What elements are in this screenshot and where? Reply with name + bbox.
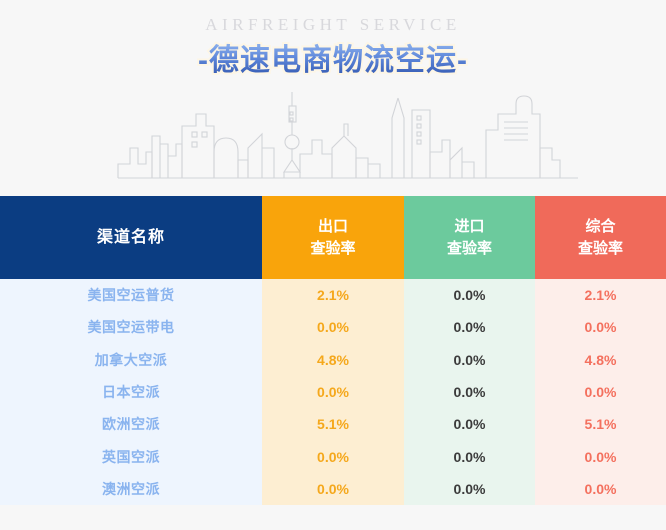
cell-export-rate: 0.0% bbox=[262, 473, 404, 505]
table-header-row: 渠道名称 出口 查验率 进口 查验率 综合 查验率 bbox=[0, 196, 666, 279]
cell-channel-name: 英国空派 bbox=[0, 440, 262, 472]
cell-import-rate: 0.0% bbox=[404, 279, 535, 311]
column-header-total-line2: 查验率 bbox=[535, 238, 666, 260]
cell-channel-name: 加拿大空派 bbox=[0, 344, 262, 376]
cell-channel-name: 日本空派 bbox=[0, 376, 262, 408]
cell-total-rate: 0.0% bbox=[535, 440, 666, 472]
cell-import-rate: 0.0% bbox=[404, 473, 535, 505]
cell-export-rate: 5.1% bbox=[262, 408, 404, 440]
cell-export-rate: 4.8% bbox=[262, 344, 404, 376]
cell-total-rate: 0.0% bbox=[535, 473, 666, 505]
table-row[interactable]: 美国空运普货2.1%0.0%2.1% bbox=[0, 279, 666, 311]
column-header-import-line1: 进口 bbox=[404, 216, 535, 238]
banner-text: AIRFREIGHT SERVICE -德速电商物流空运- -德速电商物流空运- bbox=[0, 0, 666, 80]
column-header-export-rate: 出口 查验率 bbox=[262, 196, 404, 279]
column-header-channel-name: 渠道名称 bbox=[0, 196, 262, 279]
cell-channel-name: 澳洲空派 bbox=[0, 473, 262, 505]
cell-channel-name: 美国空运普货 bbox=[0, 279, 262, 311]
banner: AIRFREIGHT SERVICE -德速电商物流空运- -德速电商物流空运- bbox=[0, 0, 666, 196]
cell-total-rate: 2.1% bbox=[535, 279, 666, 311]
table-body: 美国空运普货2.1%0.0%2.1%美国空运带电0.0%0.0%0.0%加拿大空… bbox=[0, 279, 666, 505]
cell-channel-name: 美国空运带电 bbox=[0, 311, 262, 343]
cell-total-rate: 5.1% bbox=[535, 408, 666, 440]
column-header-export-line2: 查验率 bbox=[262, 238, 404, 260]
cell-total-rate: 4.8% bbox=[535, 344, 666, 376]
cell-export-rate: 0.0% bbox=[262, 376, 404, 408]
inspection-rate-table: 渠道名称 出口 查验率 进口 查验率 综合 查验率 美国空运普货2.1%0.0%… bbox=[0, 196, 666, 505]
table-row[interactable]: 美国空运带电0.0%0.0%0.0% bbox=[0, 311, 666, 343]
table-row[interactable]: 日本空派0.0%0.0%0.0% bbox=[0, 376, 666, 408]
table-header: 渠道名称 出口 查验率 进口 查验率 综合 查验率 bbox=[0, 196, 666, 279]
cell-export-rate: 2.1% bbox=[262, 279, 404, 311]
cell-import-rate: 0.0% bbox=[404, 408, 535, 440]
column-header-total-line1: 综合 bbox=[535, 216, 666, 238]
column-header-channel-name-label: 渠道名称 bbox=[0, 227, 262, 249]
table-row[interactable]: 加拿大空派4.8%0.0%4.8% bbox=[0, 344, 666, 376]
banner-title-wrap: -德速电商物流空运- -德速电商物流空运- bbox=[198, 42, 468, 80]
table-row[interactable]: 欧洲空派5.1%0.0%5.1% bbox=[0, 408, 666, 440]
cell-export-rate: 0.0% bbox=[262, 440, 404, 472]
column-header-total-rate: 综合 查验率 bbox=[535, 196, 666, 279]
cell-export-rate: 0.0% bbox=[262, 311, 404, 343]
footer-strip bbox=[0, 506, 666, 530]
cell-import-rate: 0.0% bbox=[404, 344, 535, 376]
cell-total-rate: 0.0% bbox=[535, 311, 666, 343]
cell-total-rate: 0.0% bbox=[535, 376, 666, 408]
column-header-import-line2: 查验率 bbox=[404, 238, 535, 260]
banner-subtitle: AIRFREIGHT SERVICE bbox=[0, 14, 666, 36]
table-row[interactable]: 英国空派0.0%0.0%0.0% bbox=[0, 440, 666, 472]
column-header-export-line1: 出口 bbox=[262, 216, 404, 238]
cell-import-rate: 0.0% bbox=[404, 440, 535, 472]
column-header-import-rate: 进口 查验率 bbox=[404, 196, 535, 279]
table-row[interactable]: 澳洲空派0.0%0.0%0.0% bbox=[0, 473, 666, 505]
cell-import-rate: 0.0% bbox=[404, 376, 535, 408]
cell-import-rate: 0.0% bbox=[404, 311, 535, 343]
page-title: -德速电商物流空运- bbox=[198, 42, 468, 80]
cell-channel-name: 欧洲空派 bbox=[0, 408, 262, 440]
page-root: AIRFREIGHT SERVICE -德速电商物流空运- -德速电商物流空运-… bbox=[0, 0, 666, 530]
